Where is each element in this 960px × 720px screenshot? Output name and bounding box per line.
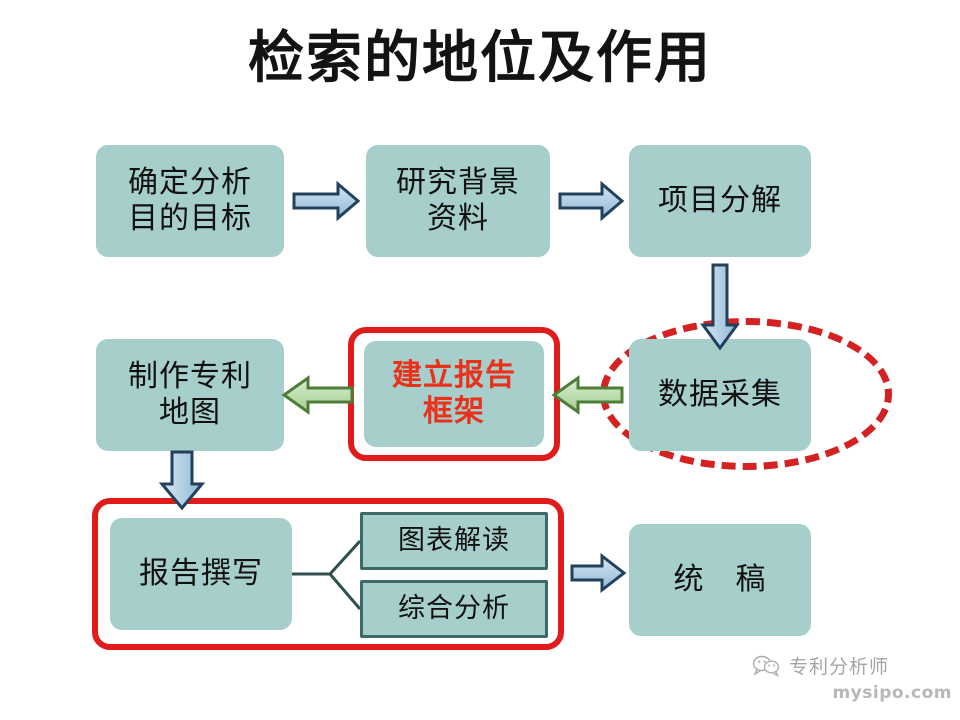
node-label: 制作专利 地图 bbox=[128, 359, 252, 431]
node-label: 项目分解 bbox=[658, 183, 782, 218]
arrow-report-writing-to-final-draft bbox=[572, 556, 624, 590]
node-label: 报告撰写 bbox=[139, 556, 263, 591]
watermark-row: 专利分析师 bbox=[752, 652, 952, 679]
node-patent-map[interactable]: 制作专利 地图 bbox=[96, 339, 284, 451]
node-label: 统 稿 bbox=[674, 562, 767, 597]
arrow-define-goal-to-research-bg bbox=[294, 184, 358, 218]
node-comprehensive-analysis[interactable]: 综合分析 bbox=[360, 580, 548, 638]
node-label: 数据采集 bbox=[658, 377, 782, 412]
arrow-report-framework-to-patent-map bbox=[284, 378, 352, 412]
page-title: 检索的地位及作用 bbox=[0, 28, 960, 90]
node-label: 综合分析 bbox=[398, 593, 510, 625]
watermark-url: mysipo.com bbox=[752, 683, 952, 703]
node-report-writing[interactable]: 报告撰写 bbox=[110, 518, 292, 630]
node-project-breakdown[interactable]: 项目分解 bbox=[629, 145, 811, 257]
node-research-background[interactable]: 研究背景 资料 bbox=[366, 145, 550, 257]
node-chart-reading[interactable]: 图表解读 bbox=[360, 512, 548, 570]
node-label: 图表解读 bbox=[398, 525, 510, 557]
node-label: 确定分析 目的目标 bbox=[128, 165, 252, 237]
watermark-account: 专利分析师 bbox=[789, 652, 889, 679]
node-data-collection[interactable]: 数据采集 bbox=[629, 339, 811, 451]
node-label: 建立报告 框架 bbox=[392, 358, 516, 430]
watermark: 专利分析师 mysipo.com bbox=[752, 652, 952, 714]
slide-canvas: 检索的地位及作用 确定分析 目的目标 研究背景 资料 项目分解 制作专利 地图 … bbox=[0, 0, 960, 720]
node-final-draft[interactable]: 统 稿 bbox=[629, 524, 811, 636]
node-label: 研究背景 资料 bbox=[396, 165, 520, 237]
node-report-framework[interactable]: 建立报告 框架 bbox=[364, 341, 544, 447]
node-define-goal[interactable]: 确定分析 目的目标 bbox=[96, 145, 284, 257]
wechat-icon bbox=[752, 654, 782, 678]
arrow-research-bg-to-project-breakdown bbox=[560, 184, 622, 218]
